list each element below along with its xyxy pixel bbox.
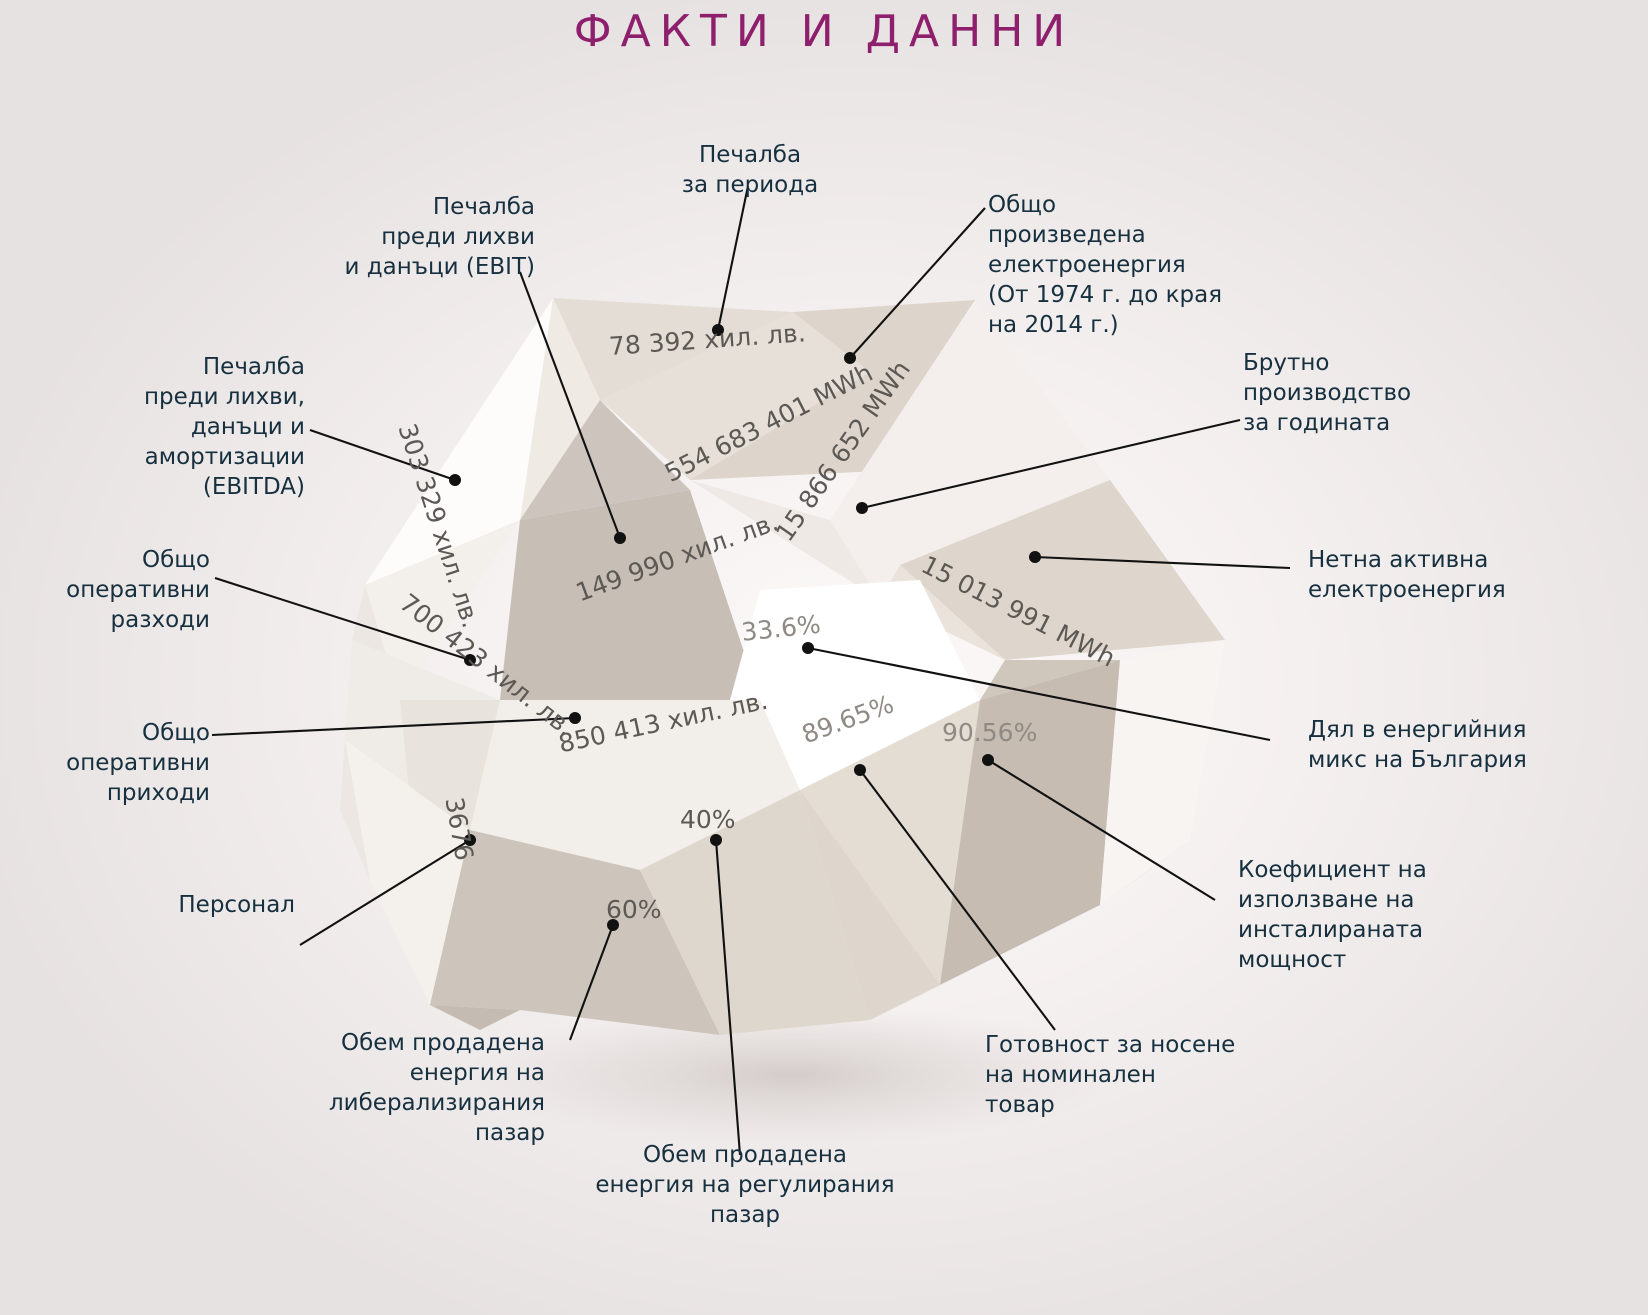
label-net-active-energy: Нетна активна електроенергия	[1308, 545, 1618, 605]
infographic-canvas: ФАКТИ И ДАННИ	[0, 0, 1648, 1315]
label-total-revenue: Общо оперативни приходи	[10, 718, 210, 808]
label-total-produced: Общо произведена електроенергия (От 1974…	[988, 190, 1288, 340]
value-liberalized-market: 60%	[606, 895, 662, 924]
label-total-opex: Общо оперативни разходи	[10, 545, 210, 635]
label-capacity-factor: Коефициент на използване на инсталиранат…	[1238, 855, 1538, 975]
label-personnel: Персонал	[60, 890, 295, 920]
label-ebit: Печалба преди лихви и данъци (EBIT)	[280, 192, 535, 282]
label-nominal-load: Готовност за носене на номинален товар	[985, 1030, 1285, 1120]
label-liberalized-market: Обем продадена енергия на либерализирани…	[280, 1028, 545, 1148]
value-regulated-market: 40%	[680, 805, 736, 834]
label-energy-mix-share: Дял в енергийния микс на България	[1308, 715, 1618, 775]
label-profit-period: Печалба за периода	[620, 140, 880, 200]
label-regulated-market: Обем продадена енергия на регулирания па…	[570, 1140, 920, 1230]
value-capacity-factor: 90.56%	[942, 718, 1037, 747]
label-ebitda: Печалба преди лихви, данъци и амортизаци…	[40, 352, 305, 502]
label-gross-production: Брутно производство за годината	[1243, 348, 1543, 438]
